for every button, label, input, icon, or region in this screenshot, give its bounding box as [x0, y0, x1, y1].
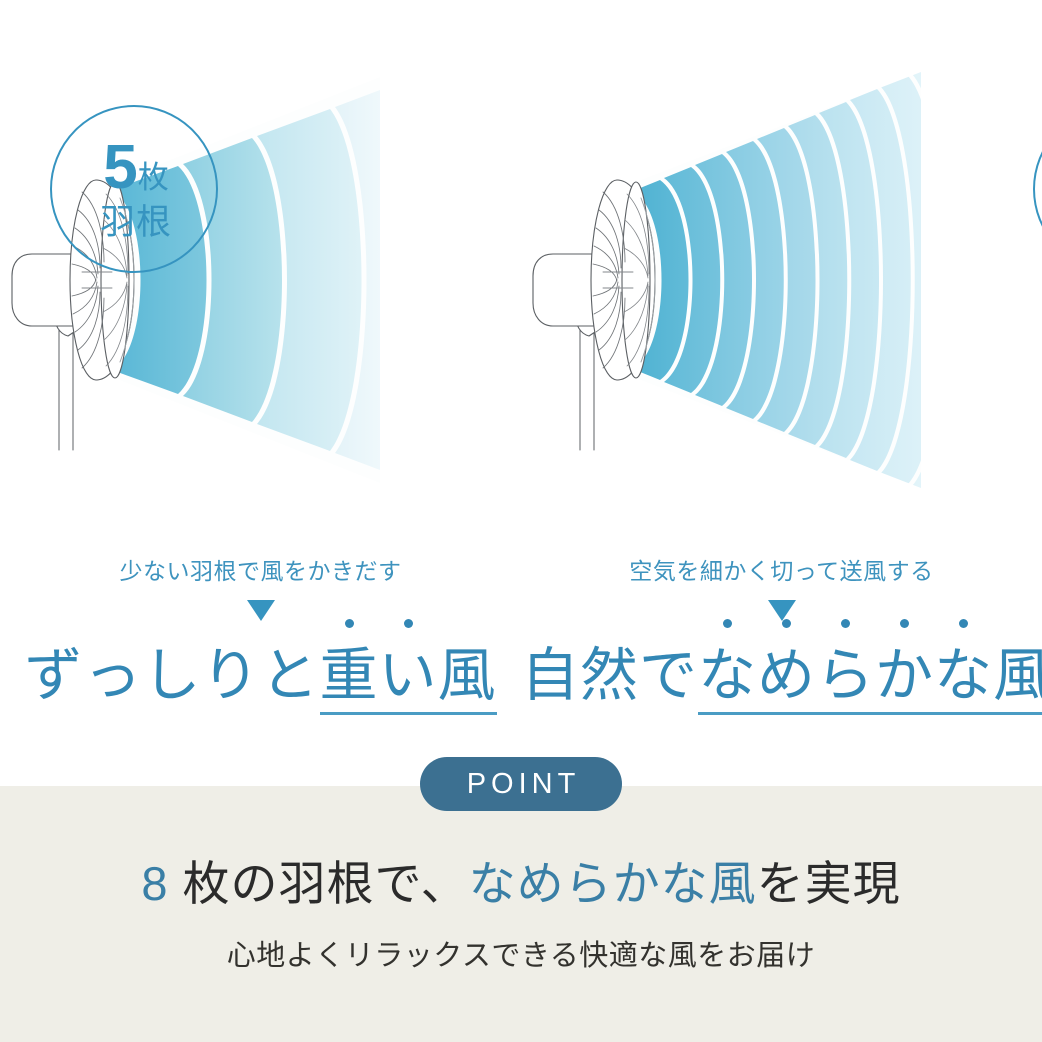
headline-emphasized-part: 重い風 — [320, 643, 497, 715]
badge-subject: 羽根 — [1035, 205, 1042, 240]
badge-subject: 羽根 — [52, 205, 220, 240]
badge-number: 5 — [103, 133, 136, 202]
comparison-section: 5枚 羽根 少ない羽根で風をかきだす ずっしりと重い風 — [0, 0, 1042, 740]
fan-side-view-icon — [533, 180, 655, 450]
airflow-bands-fine — [633, 64, 947, 496]
headline-emphasized-part: なめらかな風 — [698, 643, 1042, 715]
column-eight-blade: 8枚 羽根 空気を細かく切って送風する 自然でなめらかな風 — [521, 0, 1042, 740]
blade-count-badge-five: 5枚 羽根 — [50, 105, 218, 273]
triangle-down-icon — [247, 600, 275, 621]
badge-count-row: 5枚 — [52, 137, 220, 199]
summary-title-part-4: を実現 — [757, 857, 901, 910]
summary-title-part-2: 枚の羽根で、 — [183, 857, 469, 910]
caption-eight-blade: 空気を細かく切って送風する — [521, 552, 1042, 586]
triangle-down-icon — [768, 600, 796, 621]
summary-title-spacer — [168, 857, 182, 910]
badge-text: 5枚 羽根 — [52, 137, 220, 240]
infographic-page: 5枚 羽根 少ない羽根で風をかきだす ずっしりと重い風 — [0, 0, 1042, 1042]
headline-plain-part: 自然で — [521, 643, 698, 708]
column-five-blade: 5枚 羽根 少ない羽根で風をかきだす ずっしりと重い風 — [0, 0, 521, 740]
badge-count-row: 8枚 — [1035, 137, 1042, 199]
summary-title-part-3: なめらかな風 — [469, 857, 757, 910]
caption-five-blade: 少ない羽根で風をかきだす — [0, 552, 521, 586]
emphasis-dots — [320, 619, 497, 633]
summary-title: 8 枚の羽根で、なめらかな風を実現 — [0, 845, 1042, 914]
emphasis-dots — [698, 619, 1042, 633]
fan-scene-eight-blade — [521, 60, 1042, 500]
headline-eight-blade: 自然でなめらかな風 — [521, 628, 1042, 712]
background-bottom — [0, 786, 1042, 1042]
point-badge: POINT — [420, 757, 622, 811]
badge-unit: 枚 — [138, 160, 169, 195]
summary-title-part-1: 8 — [141, 857, 168, 910]
headline-five-blade: ずっしりと重い風 — [0, 628, 521, 712]
headline-plain-part: ずっしりと — [24, 643, 319, 708]
summary-subtitle: 心地よくリラックスできる快適な風をお届け — [0, 932, 1042, 974]
badge-text: 8枚 羽根 — [1035, 137, 1042, 240]
